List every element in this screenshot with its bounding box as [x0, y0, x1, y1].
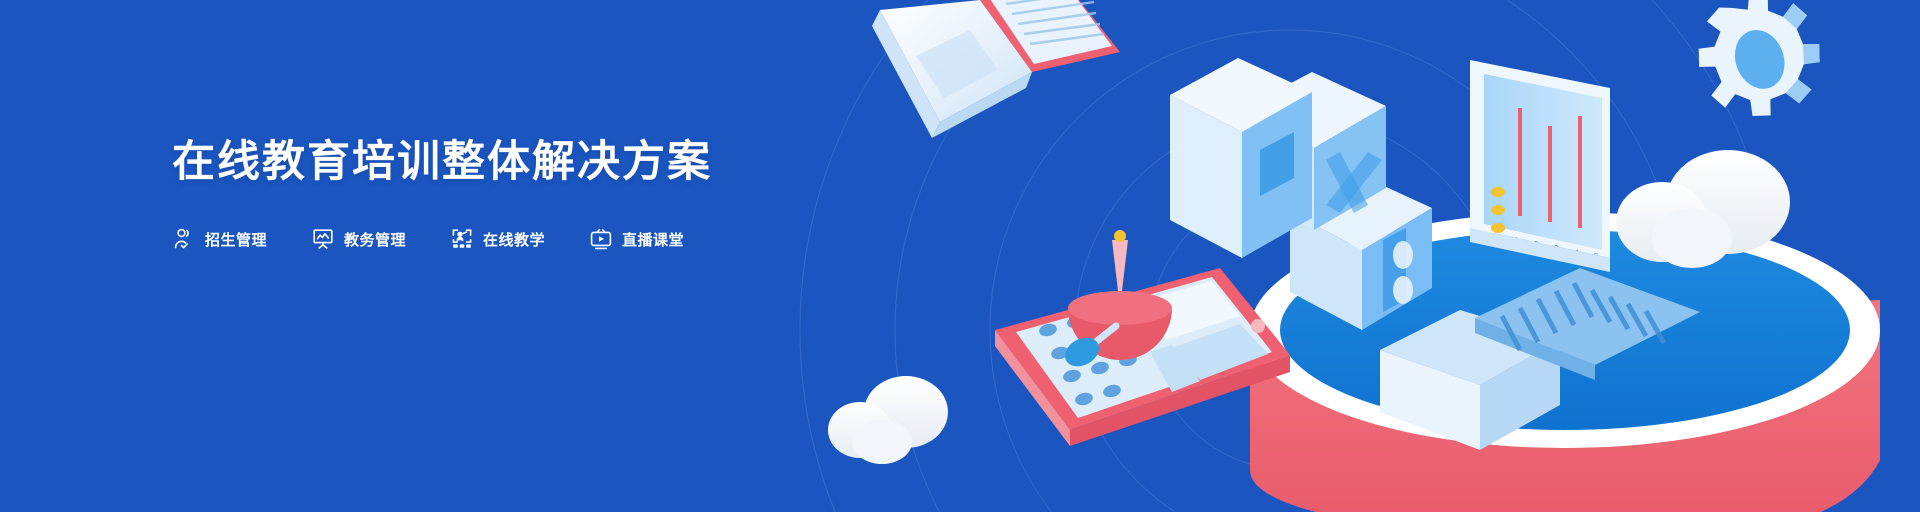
feature-item-live-classroom[interactable]: 直播课堂	[589, 227, 684, 251]
page-title: 在线教育培训整体解决方案	[172, 140, 712, 185]
feature-list: 招生管理 教务管理	[172, 227, 712, 251]
education-illustration: 1 2 3 4 5	[820, 0, 1920, 512]
feature-label: 直播课堂	[622, 229, 684, 250]
feature-label: 教务管理	[344, 229, 406, 250]
open-book	[872, 0, 1120, 138]
chart-board-icon	[311, 227, 335, 251]
feature-item-enrollment[interactable]: 招生管理	[172, 227, 267, 251]
hero-banner: 1 2 3 4 5	[0, 0, 1920, 512]
person-users-icon	[172, 227, 196, 251]
feature-item-online-teaching[interactable]: 在线教学	[450, 227, 545, 251]
feature-label: 在线教学	[483, 229, 545, 250]
computer-monitor: 1 2 3 4 5	[1470, 60, 1610, 272]
letter-block-a	[1170, 58, 1312, 258]
feature-item-academic-affairs[interactable]: 教务管理	[311, 227, 406, 251]
feature-label: 招生管理	[205, 229, 267, 250]
tv-play-icon	[589, 227, 613, 251]
cloud-small	[828, 376, 948, 464]
banner-copy: 在线教育培训整体解决方案 招生管理	[172, 140, 712, 251]
gear-icon	[1690, 0, 1828, 124]
presenter-classroom-icon	[450, 227, 474, 251]
